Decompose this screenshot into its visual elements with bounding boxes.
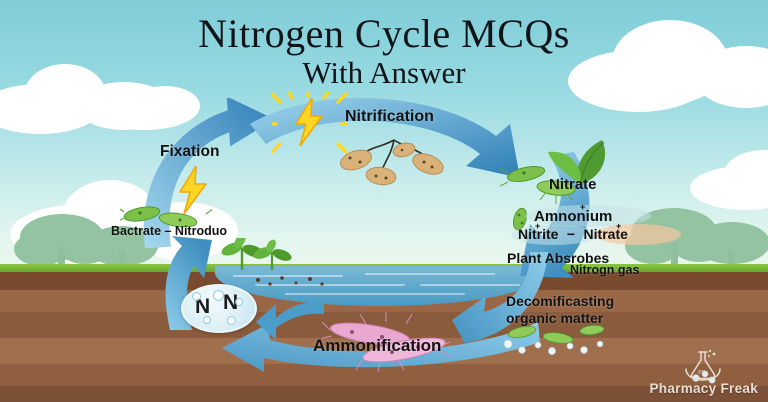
nitrogen-cycle-infographic: N N Nitrogen Cycle MCQs With Answer Fixa… xyxy=(0,0,768,402)
decomposing-line-1: Decomificasting xyxy=(506,293,614,310)
svg-text:PFx: PFx xyxy=(698,370,708,376)
lightning-bolt-icon xyxy=(176,166,210,214)
label-ammonification: Ammonification xyxy=(313,336,441,356)
label-fixation: Fixation xyxy=(160,143,219,161)
label-decomposing-organic-matter: Decomificasting organic matter xyxy=(506,293,614,327)
seedling-icon xyxy=(212,238,298,270)
lightning-bolt-icon xyxy=(292,98,326,146)
brand-logo: PFx Pharmacy Freak xyxy=(649,349,758,396)
brand-name: Pharmacy Freak xyxy=(649,381,758,396)
label-ammonium: Amnonium xyxy=(534,208,612,225)
label-separator: − xyxy=(563,226,579,242)
nitrite-charge: + xyxy=(535,221,540,231)
label-nitrogen-gas: Nitrogn gas xyxy=(570,263,639,277)
nitrogen-molecule-icon: N N xyxy=(181,284,257,333)
flask-icon: PFx xyxy=(681,349,727,381)
soil-particles-icon xyxy=(252,272,332,290)
root-nodule-icon xyxy=(336,134,452,186)
nitrate-charge: + xyxy=(616,221,621,231)
decomposing-line-2: organic matter xyxy=(506,310,614,327)
ammonium-charge: + xyxy=(580,202,585,212)
label-bactrate-nitroduo: Bactrate – Nitroduo xyxy=(111,224,227,238)
label-nitrification: Nitrification xyxy=(345,108,434,126)
label-nitrate: Nitrate xyxy=(549,176,597,193)
